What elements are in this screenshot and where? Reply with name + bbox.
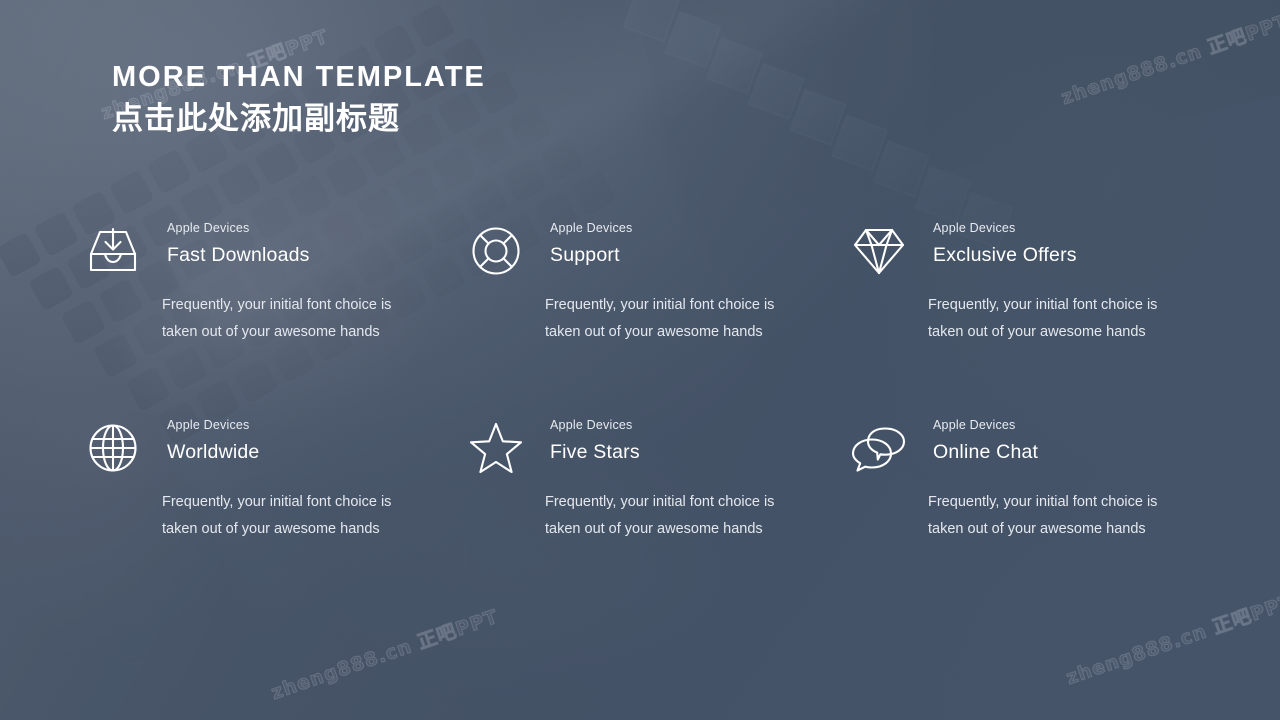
feature-description: Frequently, your initial font choice is …: [545, 292, 875, 346]
feature-description: Frequently, your initial font choice is …: [162, 489, 492, 543]
feature-heading: Five Stars: [545, 443, 857, 463]
lifebuoy-icon: [467, 222, 525, 280]
feature-desc-line-2: taken out of your awesome hands: [162, 516, 492, 543]
feature-text: Apple Devices Exclusive Offers: [928, 222, 1240, 265]
presentation-slide: zheng888.cn 正吧PPT zheng888.cn 正吧PPT zhen…: [0, 0, 1280, 720]
download-tray-icon: [84, 222, 142, 280]
feature-text: Apple Devices Support: [545, 222, 857, 265]
feature-eyebrow: Apple Devices: [162, 222, 474, 235]
feature-eyebrow: Apple Devices: [162, 419, 474, 432]
feature-eyebrow: Apple Devices: [928, 222, 1240, 235]
feature-desc-line-2: taken out of your awesome hands: [545, 319, 875, 346]
feature-text: Apple Devices Online Chat: [928, 419, 1240, 462]
diamond-icon: [850, 222, 908, 280]
slide-content: MORE THAN TEMPLATE 点击此处添加副标题 Apple Devic…: [0, 0, 1280, 720]
feature-text: Apple Devices Five Stars: [545, 419, 857, 462]
feature-desc-line-2: taken out of your awesome hands: [928, 319, 1258, 346]
feature-eyebrow: Apple Devices: [928, 419, 1240, 432]
feature-desc-line-2: taken out of your awesome hands: [162, 319, 492, 346]
feature-grid: Apple Devices Fast Downloads Frequently,…: [0, 0, 1280, 720]
feature-desc-line-1: Frequently, your initial font choice is: [162, 489, 492, 516]
star-icon: [467, 419, 525, 477]
feature-desc-line-1: Frequently, your initial font choice is: [162, 292, 492, 319]
feature-text: Apple Devices Worldwide: [162, 419, 474, 462]
feature-heading: Worldwide: [162, 443, 474, 463]
feature-desc-line-2: taken out of your awesome hands: [545, 516, 875, 543]
feature-heading: Exclusive Offers: [928, 246, 1240, 266]
feature-heading: Online Chat: [928, 443, 1240, 463]
feature-desc-line-1: Frequently, your initial font choice is: [928, 292, 1258, 319]
feature-desc-line-2: taken out of your awesome hands: [928, 516, 1258, 543]
feature-heading: Fast Downloads: [162, 246, 474, 266]
feature-eyebrow: Apple Devices: [545, 419, 857, 432]
feature-description: Frequently, your initial font choice is …: [928, 292, 1258, 346]
feature-description: Frequently, your initial font choice is …: [545, 489, 875, 543]
feature-eyebrow: Apple Devices: [545, 222, 857, 235]
feature-text: Apple Devices Fast Downloads: [162, 222, 474, 265]
feature-desc-line-1: Frequently, your initial font choice is: [545, 489, 875, 516]
feature-description: Frequently, your initial font choice is …: [162, 292, 492, 346]
globe-icon: [84, 419, 142, 477]
chat-bubbles-icon: [850, 419, 908, 477]
feature-heading: Support: [545, 246, 857, 266]
feature-desc-line-1: Frequently, your initial font choice is: [545, 292, 875, 319]
feature-description: Frequently, your initial font choice is …: [928, 489, 1258, 543]
feature-desc-line-1: Frequently, your initial font choice is: [928, 489, 1258, 516]
